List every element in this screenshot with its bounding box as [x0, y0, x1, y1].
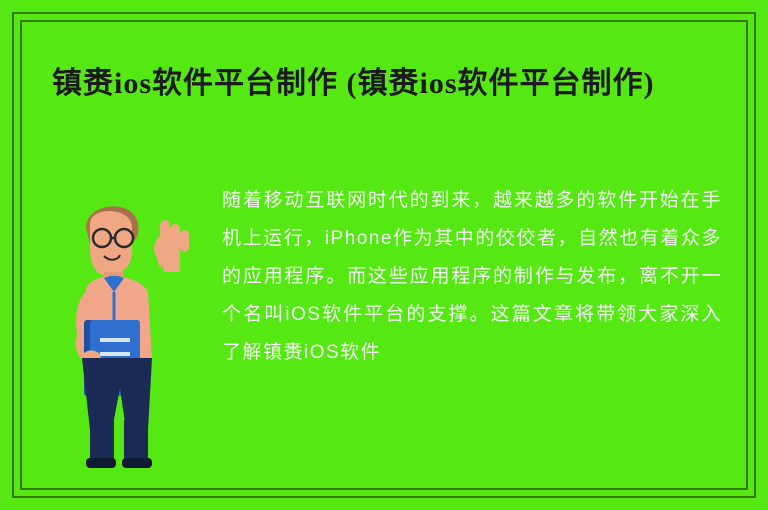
- article-body: 随着移动互联网时代的到来，越来越多的软件开始在手机上运行，iPhone作为其中的…: [222, 182, 722, 372]
- page-title: 镇赉ios软件平台制作 (镇赉ios软件平台制作): [52, 62, 692, 106]
- person-waving-with-book-illustration: [60, 180, 220, 480]
- article-card: 镇赉ios软件平台制作 (镇赉ios软件平台制作): [0, 0, 768, 510]
